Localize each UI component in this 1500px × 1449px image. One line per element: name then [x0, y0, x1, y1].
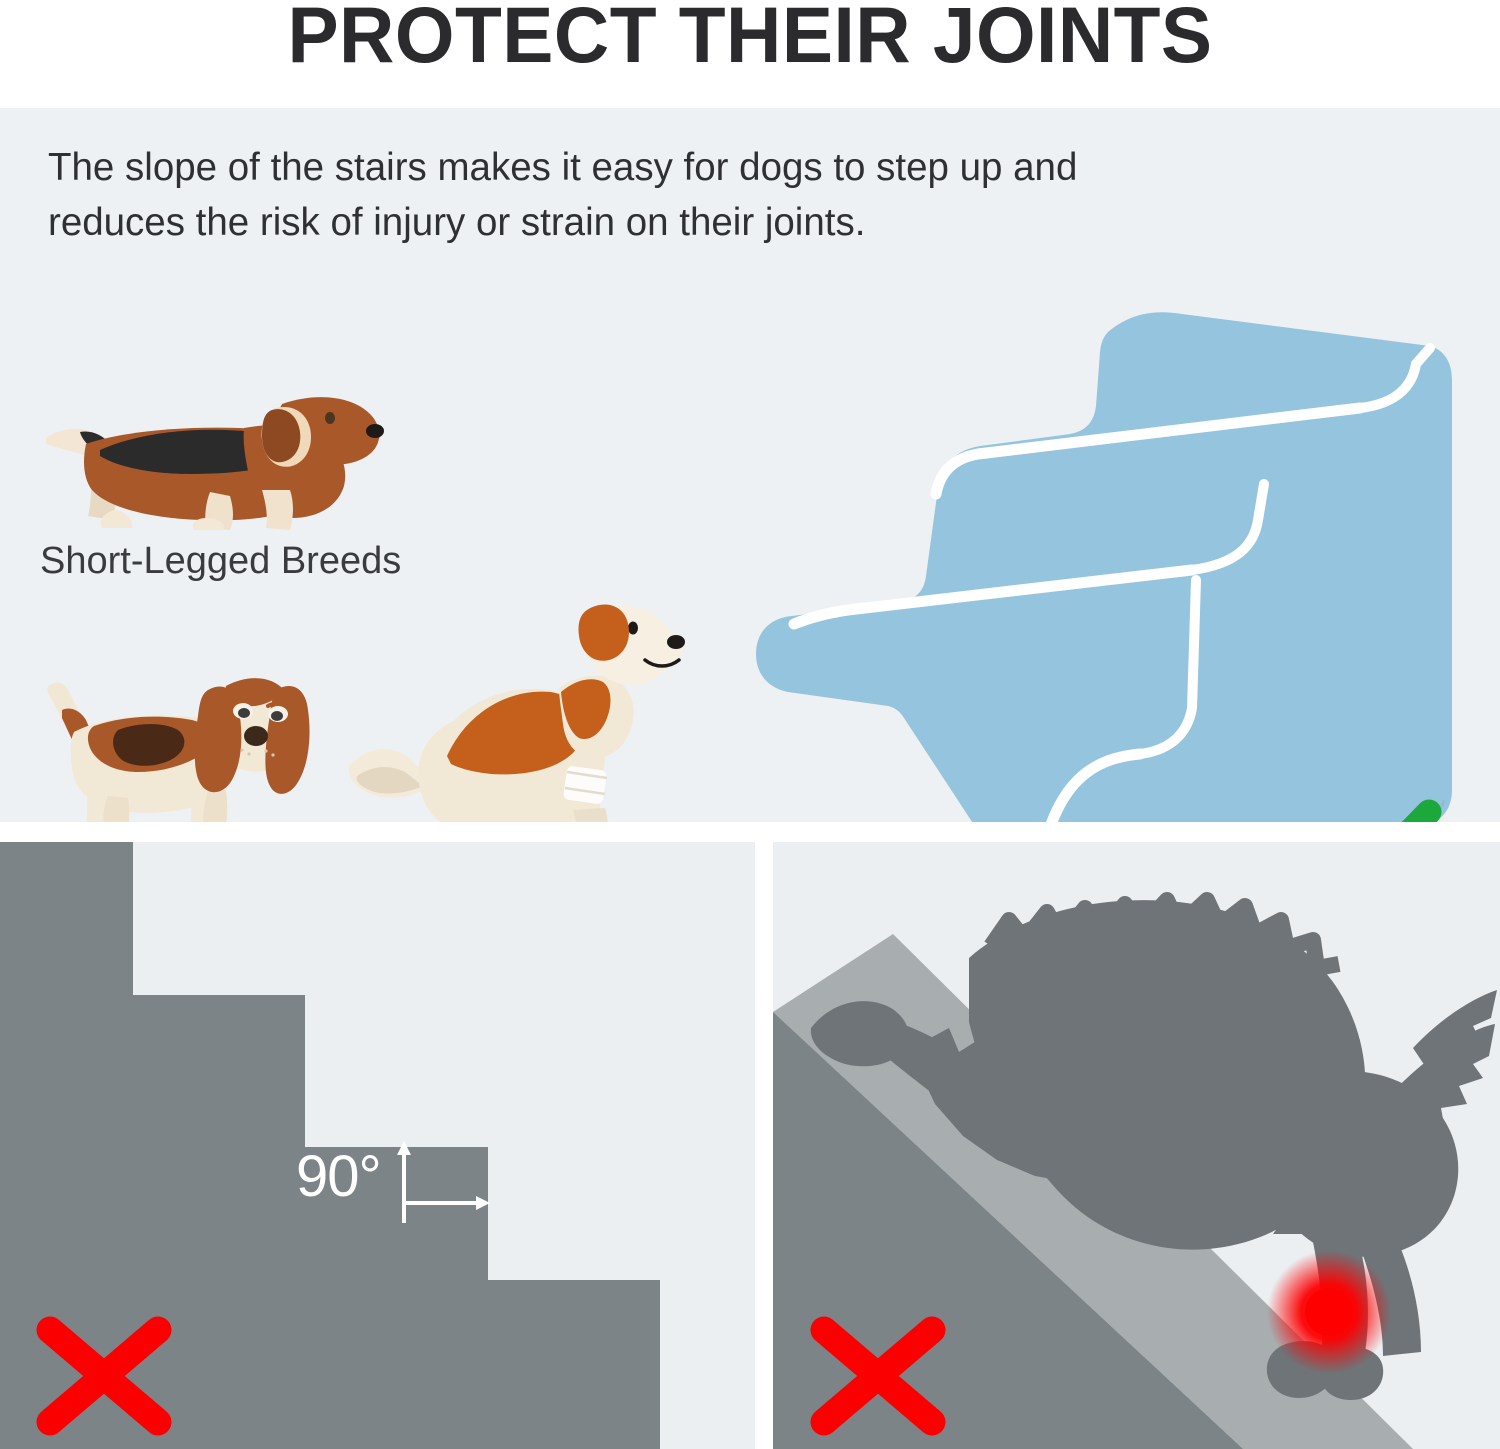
page-title: PROTECT THEIR JOINTS: [23, 0, 1478, 81]
dog-card-short-legged: [30, 370, 390, 550]
approved-check: [1295, 798, 1445, 822]
product-illustration: [740, 288, 1460, 822]
basset-hound-standing-icon: [30, 370, 390, 550]
angle-label: 90°: [296, 1143, 381, 1210]
rejected-mark-stairs: [28, 1312, 180, 1440]
dog-card-injuries: [335, 580, 695, 822]
dog-card-seniors: [30, 656, 330, 822]
dog-with-bandaged-leg-icon: [335, 580, 695, 822]
rejected-mark-ramp: [802, 1312, 954, 1440]
right-angle-arrow-icon: [390, 1135, 500, 1245]
benefits-panel: The slope of the stairs makes it easy fo…: [0, 108, 1500, 822]
red-cross-icon: [802, 1312, 954, 1440]
intro-description: The slope of the stairs makes it easy fo…: [48, 141, 1118, 250]
header-bar: PROTECT THEIR JOINTS: [0, 0, 1500, 108]
red-cross-icon: [28, 1312, 180, 1440]
dog-card-label-short-legged: Short-Legged Breeds: [40, 540, 401, 583]
senior-basset-hound-icon: [30, 656, 330, 822]
blue-foam-pet-stairs-icon: [740, 288, 1460, 822]
green-check-icon: [1295, 798, 1445, 822]
